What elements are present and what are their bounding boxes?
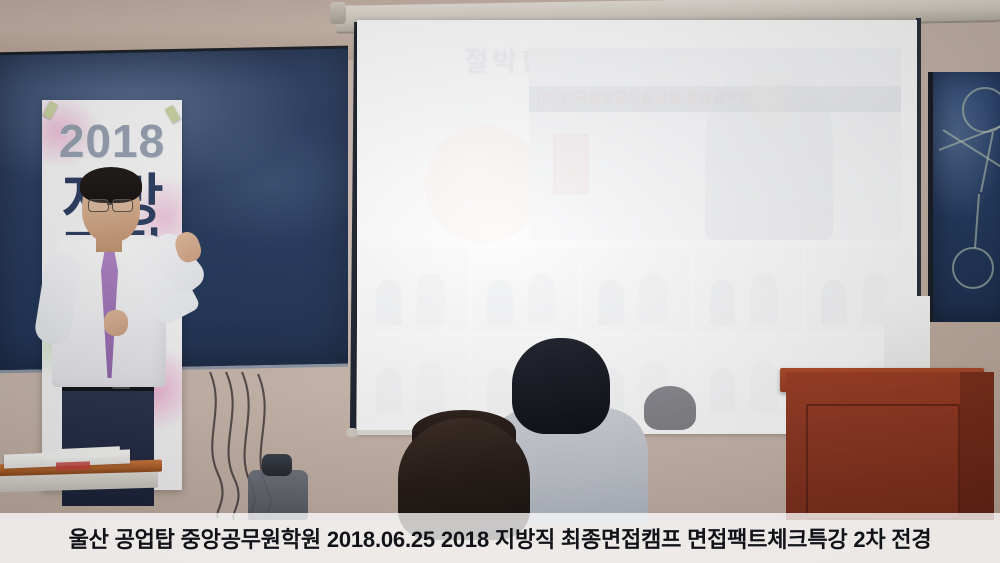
- lectern-front-panel: [806, 404, 960, 520]
- speaker-glasses-right-lens: [112, 199, 133, 212]
- projector-screen-roller-cap: [330, 2, 346, 24]
- desk-red-folder: [56, 461, 90, 470]
- right-chalkboard: [928, 72, 1000, 322]
- slide-circle-line1: 합격만: [425, 161, 543, 176]
- slide-thumbnail: [361, 248, 468, 332]
- caption-text: 울산 공업탑 중앙공무원학원 2018.06.25 2018 지방직 최종면접캠…: [69, 522, 932, 554]
- classroom-chair-back: [262, 454, 292, 476]
- chalk-drawing: [933, 72, 1000, 322]
- slide-thumbnail: [583, 248, 690, 332]
- speaker-left-hand: [104, 310, 128, 336]
- slide-thumbnail: [361, 336, 468, 420]
- poster-year: 2018: [42, 114, 182, 168]
- slide-main-photo: (주)한국중앙공무원교육 중앙공무원: [529, 48, 901, 240]
- slide-circle-callout: 합격만 생각해요: [425, 125, 543, 243]
- photo-wall-poster: [553, 134, 589, 194]
- audience-male-head: [512, 338, 610, 434]
- speaker-glasses-left-lens: [88, 199, 109, 212]
- lectern-side: [960, 372, 994, 520]
- photograph-frame: 절박한 마음으로 최선을 !! 합격만 생각해요 (주)한국중앙공무원교육 중앙…: [0, 0, 1000, 563]
- screen-pull-knob: [346, 428, 358, 437]
- slide-circle-line2: 생각해요: [425, 198, 543, 213]
- photo-person-in-suit: [705, 62, 833, 240]
- slide-thumbnail: [695, 248, 802, 332]
- caption-bar: 울산 공업탑 중앙공무원학원 2018.06.25 2018 지방직 최종면접캠…: [0, 513, 1000, 563]
- audience-member-right: [644, 386, 696, 430]
- slide-thumbnail: [472, 248, 579, 332]
- speaker-hair: [80, 167, 142, 203]
- speaker-glasses-bridge: [107, 203, 112, 205]
